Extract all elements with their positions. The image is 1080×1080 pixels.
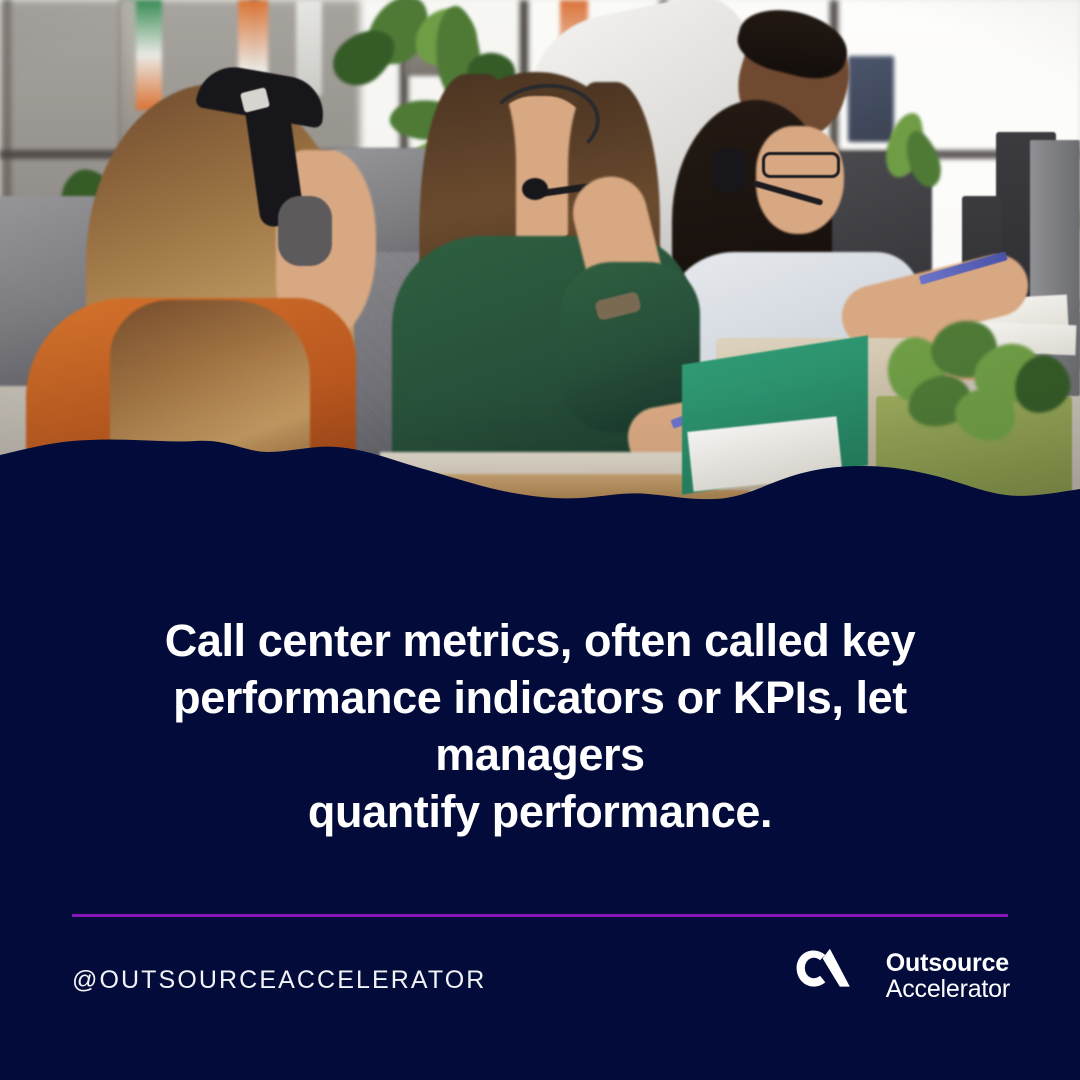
logo-wordmark: Outsource Accelerator	[886, 950, 1010, 1002]
headline-text: Call center metrics, often called key pe…	[70, 612, 1010, 840]
post-content: Call center metrics, often called key pe…	[0, 0, 1080, 1080]
divider-line	[72, 914, 1008, 917]
social-handle[interactable]: @OUTSOURCEACCELERATOR	[72, 966, 486, 995]
social-media-post: Call center metrics, often called key pe…	[0, 0, 1080, 1080]
outsource-accelerator-ca-monogram-icon	[796, 948, 870, 1004]
logo-word-outsource: Outsource	[886, 950, 1010, 976]
brand-logo[interactable]: Outsource Accelerator	[796, 948, 1010, 1004]
logo-word-accelerator: Accelerator	[886, 976, 1010, 1002]
